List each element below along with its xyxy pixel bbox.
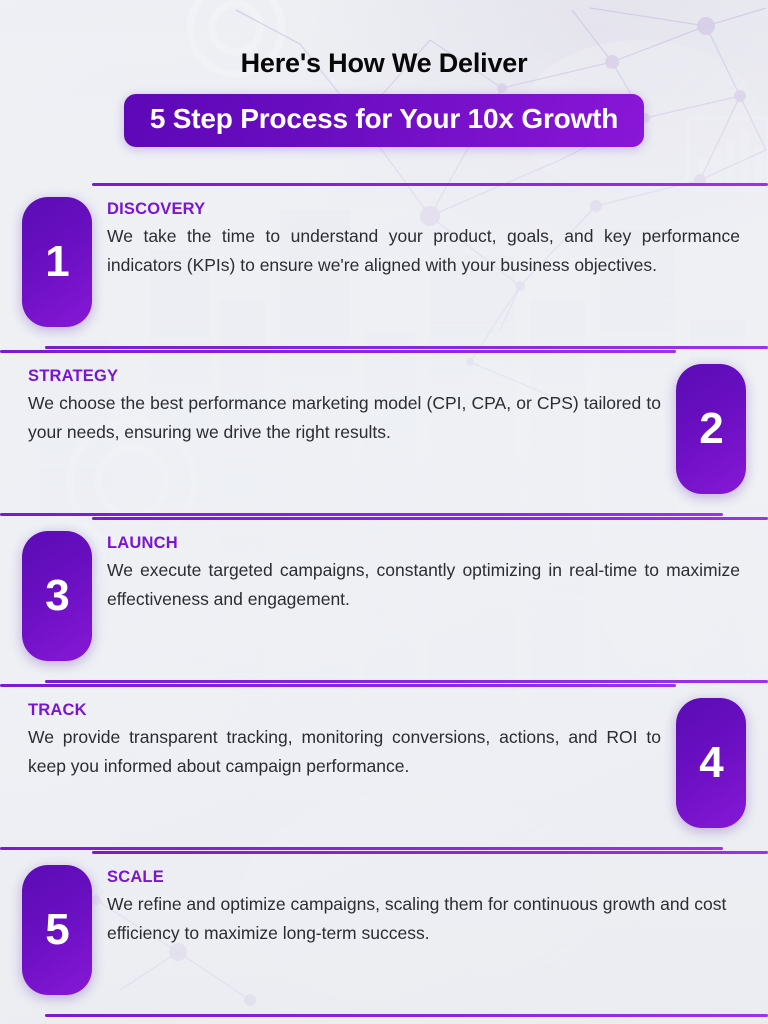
step-divider-bottom	[0, 847, 723, 850]
step-divider-bottom	[45, 1014, 768, 1017]
step-number: 4	[699, 741, 722, 785]
step-body: STRATEGY We choose the best performance …	[28, 367, 661, 447]
step-divider-top	[92, 851, 768, 854]
steps-list: 1 DISCOVERY We take the time to understa…	[0, 183, 768, 1018]
infographic-page: Here's How We Deliver 5 Step Process for…	[0, 0, 768, 1024]
page-title-banner-wrap: 5 Step Process for Your 10x Growth	[0, 94, 768, 147]
step-divider-bottom	[45, 680, 768, 683]
step-body: DISCOVERY We take the time to understand…	[107, 200, 740, 280]
step-item-2: 2 STRATEGY We choose the best performanc…	[0, 350, 768, 517]
step-item-1: 1 DISCOVERY We take the time to understa…	[0, 183, 768, 350]
step-description: We execute targeted campaigns, constantl…	[107, 556, 740, 614]
step-number: 3	[45, 574, 68, 618]
page-header: Here's How We Deliver 5 Step Process for…	[0, 0, 768, 147]
step-item-4: 4 TRACK We provide transparent tracking,…	[0, 684, 768, 851]
page-eyebrow: Here's How We Deliver	[0, 0, 768, 79]
step-title: STRATEGY	[28, 367, 661, 386]
step-title: SCALE	[107, 868, 740, 887]
page-title: 5 Step Process for Your 10x Growth	[150, 103, 618, 135]
step-description: We provide transparent tracking, monitor…	[28, 723, 661, 781]
step-divider-top	[92, 517, 768, 520]
step-description: We choose the best performance marketing…	[28, 389, 661, 447]
step-item-3: 3 LAUNCH We execute targeted campaigns, …	[0, 517, 768, 684]
step-number-badge: 3	[22, 531, 92, 661]
step-divider-bottom	[45, 346, 768, 349]
step-divider-top	[0, 684, 676, 687]
step-divider-bottom	[0, 513, 723, 516]
step-item-5: 5 SCALE We refine and optimize campaigns…	[0, 851, 768, 1018]
step-number-badge: 4	[676, 698, 746, 828]
step-number-badge: 5	[22, 865, 92, 995]
step-description: We take the time to understand your prod…	[107, 222, 740, 280]
step-divider-top	[0, 350, 676, 353]
step-number: 1	[45, 240, 68, 284]
step-divider-top	[92, 183, 768, 186]
step-number-badge: 1	[22, 197, 92, 327]
page-title-banner: 5 Step Process for Your 10x Growth	[124, 94, 644, 147]
step-number: 2	[699, 407, 722, 451]
step-number: 5	[45, 908, 68, 952]
step-body: TRACK We provide transparent tracking, m…	[28, 701, 661, 781]
step-number-badge: 2	[676, 364, 746, 494]
step-title: LAUNCH	[107, 534, 740, 553]
step-description: We refine and optimize campaigns, scalin…	[107, 890, 740, 948]
step-body: SCALE We refine and optimize campaigns, …	[107, 868, 740, 948]
step-title: TRACK	[28, 701, 661, 720]
step-body: LAUNCH We execute targeted campaigns, co…	[107, 534, 740, 614]
step-title: DISCOVERY	[107, 200, 740, 219]
